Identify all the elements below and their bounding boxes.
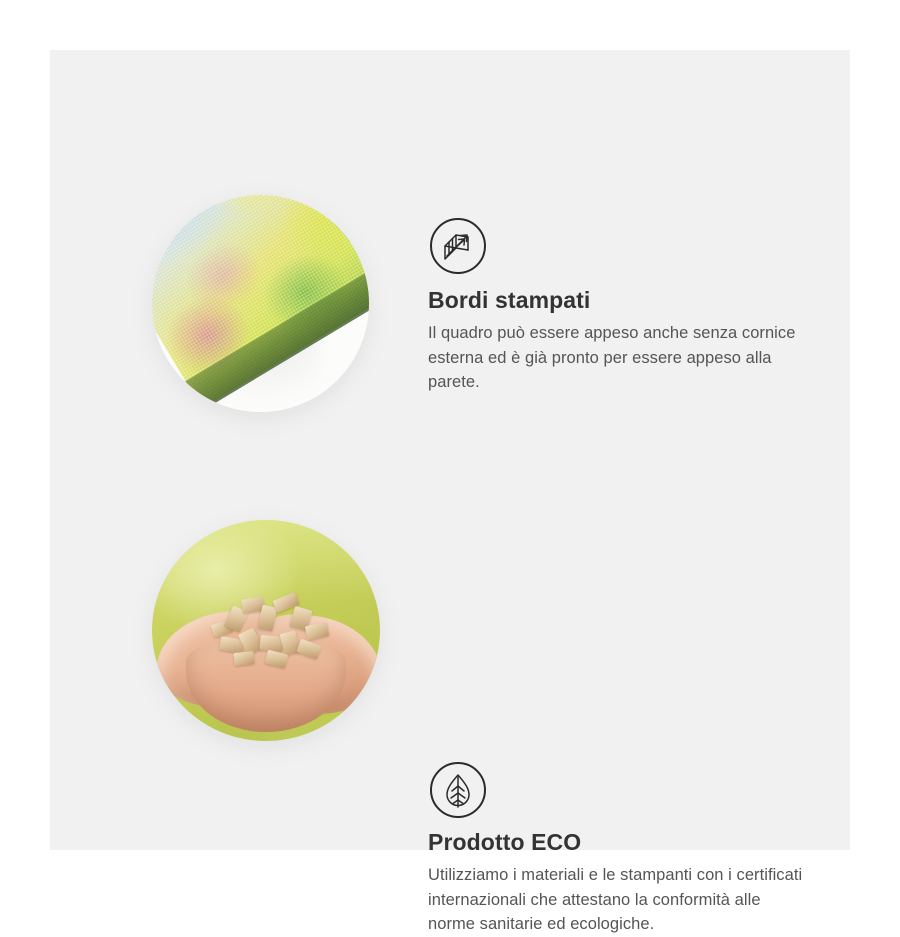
feature-title: Prodotto ECO xyxy=(428,828,808,857)
eco-photo-illustration xyxy=(152,520,380,741)
product-feature-infographic: Bordi stampati Il quadro può essere appe… xyxy=(0,0,900,900)
eco-background-blur xyxy=(152,520,380,604)
leaf-icon xyxy=(430,762,486,818)
feature-block-eco-product: Prodotto ECO Utilizziamo i materiali e l… xyxy=(50,325,850,725)
wood-chips-pile xyxy=(208,594,336,672)
feature-title: Bordi stampati xyxy=(428,286,808,315)
printed-edges-icon xyxy=(430,218,486,274)
feature-photo-eco xyxy=(152,520,380,741)
content-panel: Bordi stampati Il quadro può essere appe… xyxy=(50,50,850,850)
feature-text-eco-product: Prodotto ECO Utilizziamo i materiali e l… xyxy=(428,828,808,937)
